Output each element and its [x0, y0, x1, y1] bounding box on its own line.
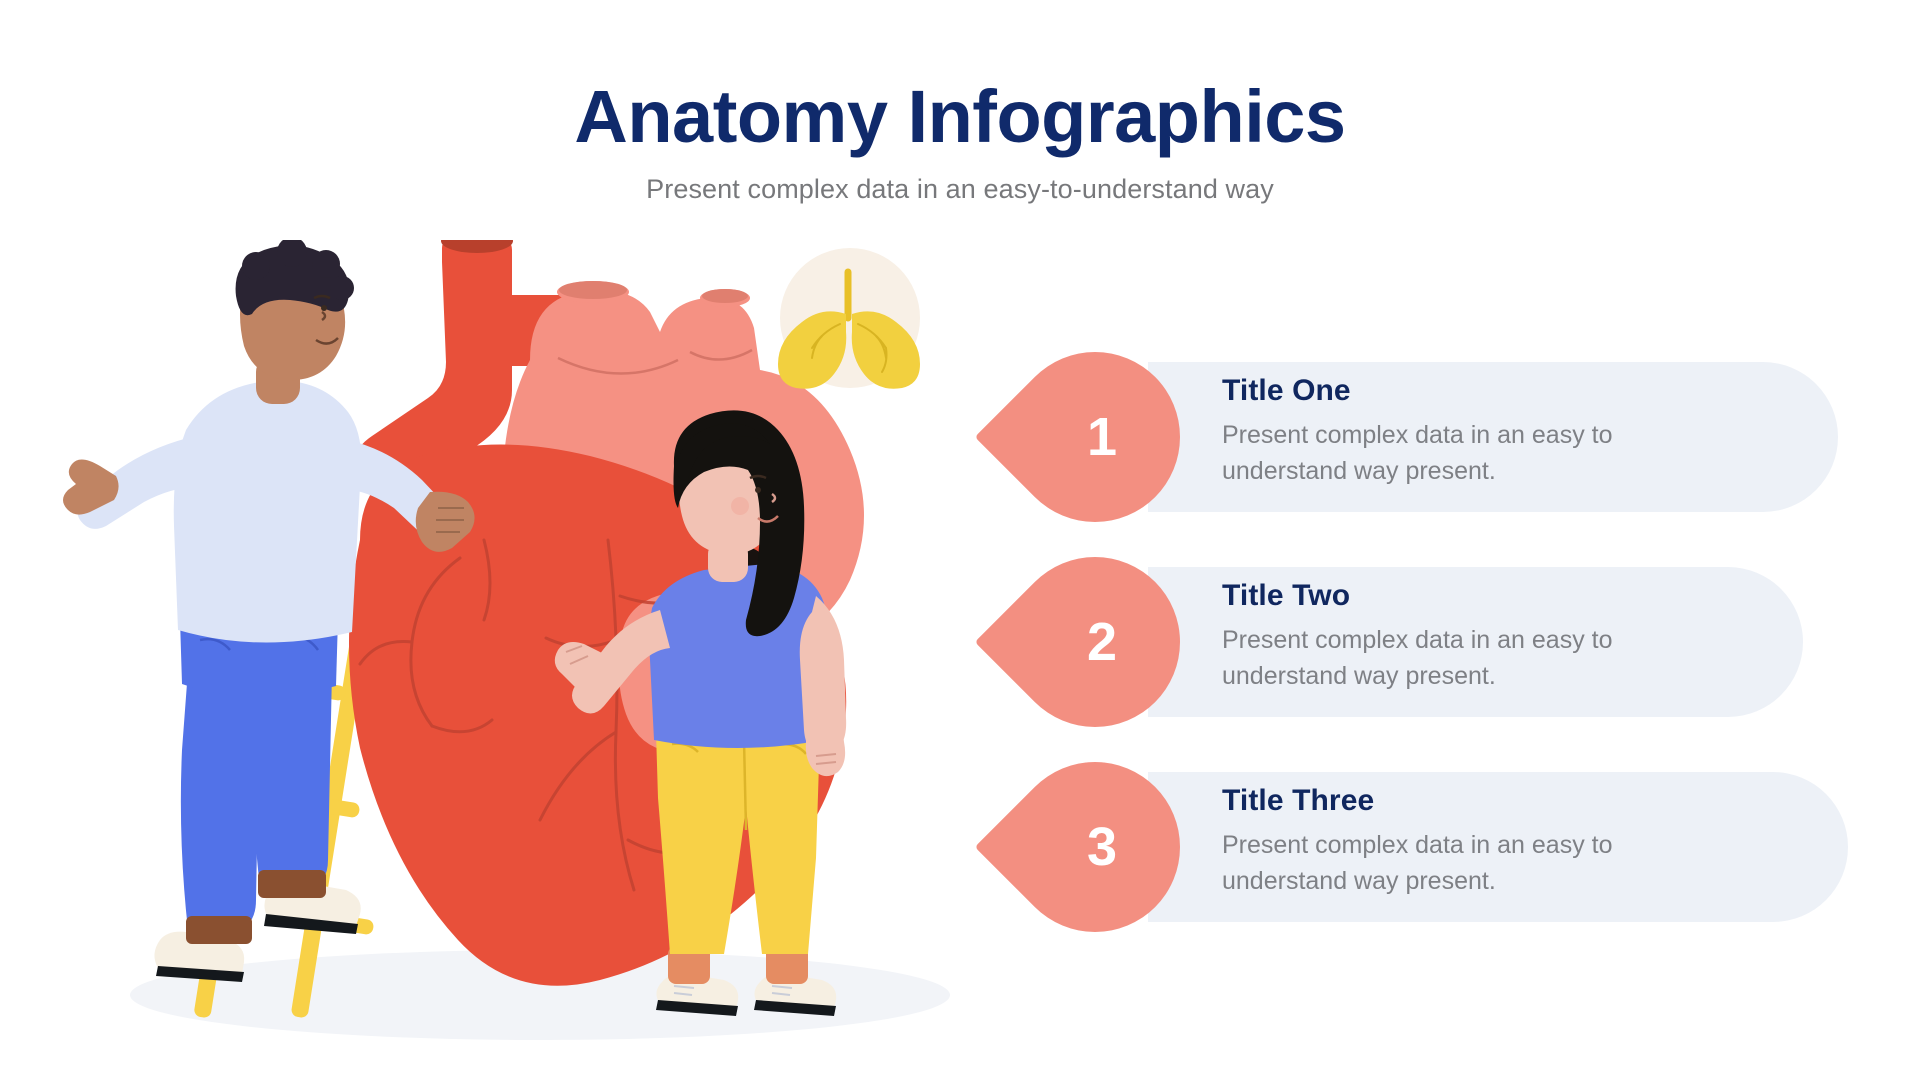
list-item[interactable]: 3 Title Three Present complex data in an…: [1010, 762, 1890, 922]
header: Anatomy Infographics Present complex dat…: [0, 78, 1920, 205]
row-title-2: Title Two: [1222, 579, 1782, 613]
page-title: Anatomy Infographics: [0, 78, 1920, 156]
lungs-icon: [778, 248, 920, 389]
row-text-block: Title One Present complex data in an eas…: [1222, 374, 1782, 489]
page-subtitle: Present complex data in an easy-to-under…: [0, 174, 1920, 205]
row-description-3: Present complex data in an easy to under…: [1222, 828, 1742, 899]
row-description-2: Present complex data in an easy to under…: [1222, 623, 1742, 694]
anatomy-illustration: [60, 240, 1060, 1060]
teardrop-badge-1: [975, 317, 1215, 557]
teardrop-badge-3: [975, 727, 1215, 967]
list-item[interactable]: 2 Title Two Present complex data in an e…: [1010, 557, 1890, 717]
slide-canvas: Anatomy Infographics Present complex dat…: [0, 0, 1920, 1080]
feature-list: 1 Title One Present complex data in an e…: [1010, 352, 1890, 967]
list-item[interactable]: 1 Title One Present complex data in an e…: [1010, 352, 1890, 512]
row-title-3: Title Three: [1222, 784, 1782, 818]
row-description-1: Present complex data in an easy to under…: [1222, 418, 1742, 489]
teardrop-badge-2: [975, 522, 1215, 762]
row-title-1: Title One: [1222, 374, 1782, 408]
row-text-block: Title Three Present complex data in an e…: [1222, 784, 1782, 899]
row-text-block: Title Two Present complex data in an eas…: [1222, 579, 1782, 694]
